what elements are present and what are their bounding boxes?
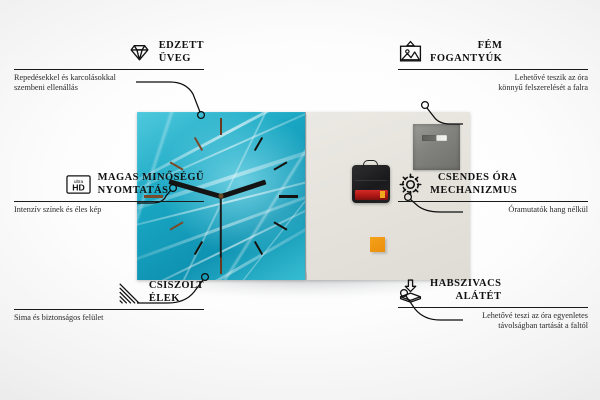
clock-second-hand — [220, 196, 222, 258]
clock-center-hub — [219, 194, 224, 199]
feature-desc: Lehetővé teszik az óra könnyű felszerelé… — [398, 73, 588, 93]
svg-text:HD: HD — [72, 183, 84, 193]
feature-title: FÉM FOGANTYÚK — [430, 40, 502, 65]
feature-header: HABSZIVACS ALÁTÉT — [398, 278, 588, 303]
divider — [398, 69, 588, 70]
polished-edges-icon — [117, 280, 142, 305]
feature-title: EDZETT ÜVEG — [159, 40, 204, 65]
divider — [398, 201, 588, 202]
divider — [14, 69, 204, 70]
feature-metal-handles: FÉM FOGANTYÚK Lehetővé teszik az óra kön… — [398, 40, 588, 93]
battery — [355, 190, 388, 200]
feature-desc: Repedésekkel és karcolásokkal szembeni e… — [14, 73, 204, 93]
divider — [14, 309, 204, 310]
feature-title: CSISZOLT ÉLEK — [149, 280, 204, 305]
clock-mechanism — [352, 165, 390, 203]
feature-desc: Óramutatók hang nélkül — [398, 205, 588, 215]
feature-header: FÉM FOGANTYÚK — [398, 40, 588, 65]
metal-hanger-plate — [413, 124, 460, 170]
hanger-slot — [422, 135, 447, 141]
gear-icon — [398, 172, 423, 197]
feature-desc: Lehetővé teszi az óra egyenletes távolsá… — [398, 311, 588, 331]
feature-header: ultra HD MAGAS MINŐSÉGŰ NYOMTATÁS — [14, 172, 204, 197]
ultra-hd-icon: ultra HD — [66, 172, 91, 197]
feature-header: CSISZOLT ÉLEK — [14, 280, 204, 305]
feature-foam-pad: HABSZIVACS ALÁTÉT Lehetővé teszi az óra … — [398, 278, 588, 331]
feature-tempered-glass: EDZETT ÜVEG Repedésekkel és karcolásokka… — [14, 40, 204, 93]
feature-title: HABSZIVACS ALÁTÉT — [430, 278, 501, 303]
feature-title: MAGAS MINŐSÉGŰ NYOMTATÁS — [98, 172, 204, 197]
wall-mount-frame-icon — [398, 40, 423, 65]
foam-pad-arrow-icon — [398, 278, 423, 303]
feature-desc: Sima és biztonságos felület — [14, 313, 204, 323]
foam-pad — [370, 237, 385, 252]
mechanism-seam — [355, 180, 387, 181]
feature-quiet-mechanism: CSENDES ÓRA MECHANIZMUS Óramutatók hang … — [398, 172, 588, 215]
divider — [398, 307, 588, 308]
feature-polished-edges: CSISZOLT ÉLEK Sima és biztonságos felüle… — [14, 280, 204, 323]
feature-header: EDZETT ÜVEG — [14, 40, 204, 65]
feature-high-quality-print: ultra HD MAGAS MINŐSÉGŰ NYOMTATÁS Intenz… — [14, 172, 204, 215]
infographic-stage: EDZETT ÜVEG Repedésekkel és karcolásokka… — [0, 0, 600, 400]
mechanism-hook — [363, 160, 378, 169]
feature-title: CSENDES ÓRA MECHANIZMUS — [430, 172, 517, 197]
divider — [14, 201, 204, 202]
feature-header: CSENDES ÓRA MECHANIZMUS — [398, 172, 588, 197]
feature-desc: Intenzív színek és éles kép — [14, 205, 204, 215]
diamond-icon — [127, 40, 152, 65]
